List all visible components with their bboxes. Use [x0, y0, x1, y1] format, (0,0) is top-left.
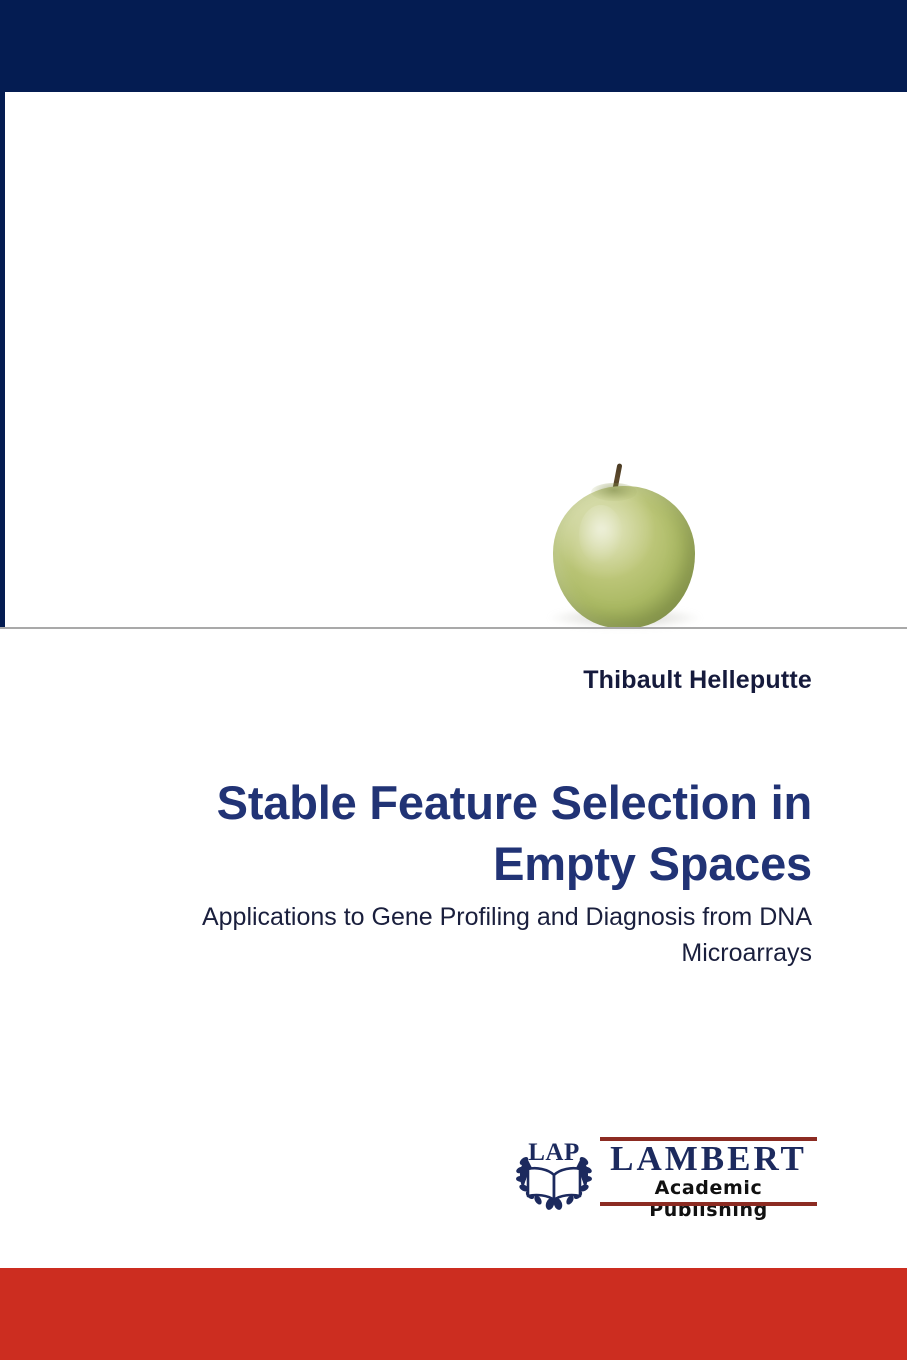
- svg-text:LAP: LAP: [528, 1139, 580, 1166]
- bottom-red-band: [0, 1268, 907, 1360]
- lap-emblem-icon: LAP: [512, 1132, 596, 1210]
- publisher-logo: LAP LAMBERT Academic Publishing: [512, 1132, 817, 1210]
- publisher-tagline: Academic Publishing: [600, 1177, 817, 1221]
- apple-body: [553, 486, 695, 628]
- author-name: Thibault Helleputte: [60, 666, 812, 695]
- book-title-line-2: Empty Spaces: [60, 833, 812, 894]
- book-subtitle-line-2: Microarrays: [50, 936, 812, 972]
- book-title-line-1: Stable Feature Selection in: [60, 772, 812, 833]
- publisher-name: LAMBERT: [600, 1141, 817, 1177]
- logo-rule-bottom: [600, 1202, 817, 1206]
- green-apple-icon: [535, 457, 715, 642]
- book-title: Stable Feature Selection in Empty Spaces: [60, 772, 812, 894]
- book-subtitle: Applications to Gene Profiling and Diagn…: [50, 900, 812, 971]
- book-cover: Thibault Helleputte Stable Feature Selec…: [0, 0, 907, 1360]
- publisher-wordmark: LAMBERT Academic Publishing: [600, 1134, 817, 1208]
- book-subtitle-line-1: Applications to Gene Profiling and Diagn…: [50, 900, 812, 936]
- apple-highlight: [579, 505, 623, 565]
- apple-dimple: [591, 483, 637, 501]
- top-navy-band: [0, 0, 907, 92]
- horizontal-divider: [0, 627, 907, 629]
- cover-image-panel: [5, 92, 907, 627]
